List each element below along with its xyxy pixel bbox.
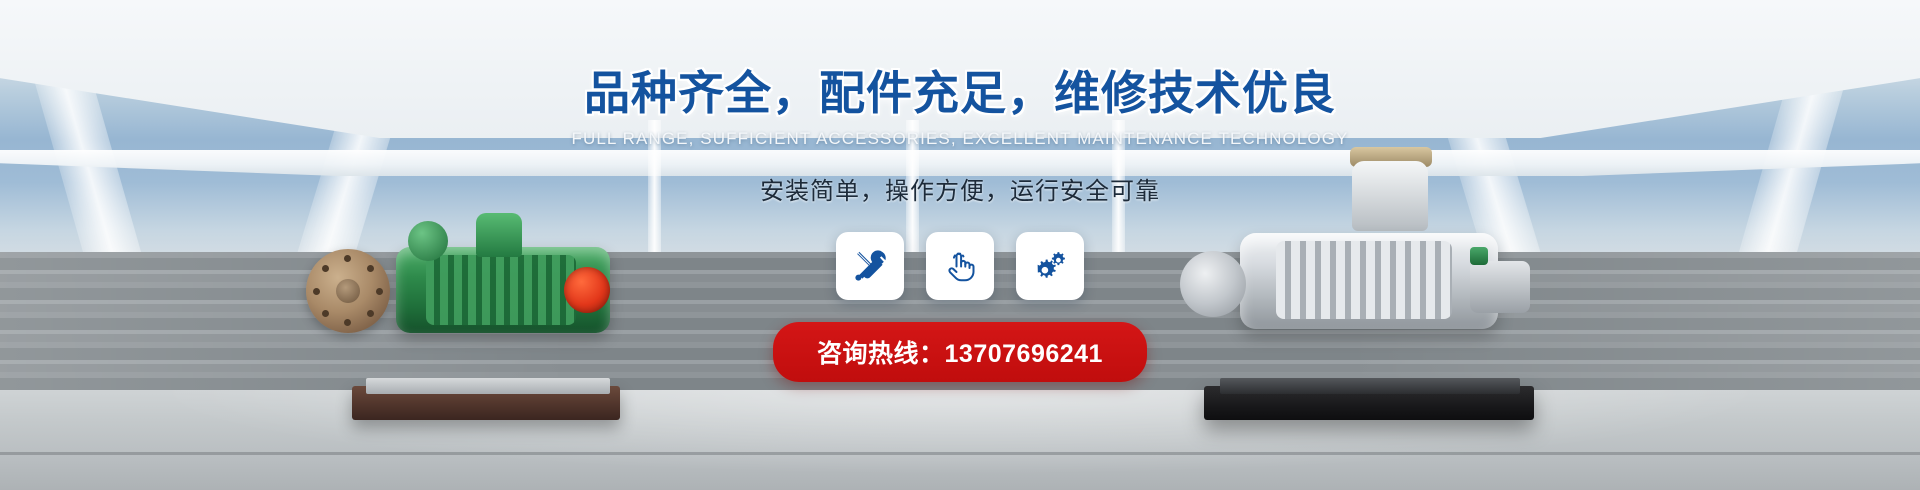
flange-bolt bbox=[367, 265, 374, 272]
feature-item-parts[interactable] bbox=[1016, 232, 1084, 300]
hotline-badge[interactable]: 咨询热线：13707696241 bbox=[773, 322, 1147, 382]
subtitle-chinese: 安装简单，操作方便，运行安全可靠 bbox=[760, 171, 1160, 206]
pump-green-fitting bbox=[1470, 247, 1488, 265]
pump-skid bbox=[366, 378, 610, 394]
flange-bolt bbox=[344, 255, 351, 262]
hand-tap-icon bbox=[943, 249, 977, 283]
feature-item-operation[interactable] bbox=[926, 232, 994, 300]
flange-bolt bbox=[344, 319, 351, 326]
pump-discharge-head bbox=[1352, 161, 1428, 231]
pump-skid bbox=[1220, 378, 1520, 394]
gears-icon bbox=[1033, 249, 1067, 283]
product-image-silver-pump bbox=[1170, 155, 1550, 390]
flange-bolt bbox=[313, 288, 320, 295]
pump-suction-head bbox=[408, 221, 448, 261]
flange-bolt bbox=[322, 265, 329, 272]
subtitle-english: FULL RANGE, SUFFICIENT ACCESSORIES, EXCE… bbox=[572, 129, 1349, 149]
tools-icon bbox=[853, 249, 887, 283]
pump-stages bbox=[1276, 241, 1452, 319]
concrete-floor bbox=[0, 390, 1920, 490]
product-banner: 品种齐全，配件充足，维修技术优良 FULL RANGE, SUFFICIENT … bbox=[0, 0, 1920, 490]
feature-icon-row bbox=[836, 232, 1084, 300]
flange-bolt bbox=[322, 310, 329, 317]
page-title: 品种齐全，配件充足，维修技术优良 bbox=[584, 68, 1336, 119]
pump-suction-flange bbox=[1180, 251, 1246, 317]
product-image-green-pump bbox=[300, 195, 660, 390]
pump-red-cap bbox=[564, 267, 610, 313]
pump-outlet bbox=[1470, 261, 1530, 313]
flange-bolt bbox=[367, 310, 374, 317]
pump-stages bbox=[426, 255, 576, 325]
feature-item-tools[interactable] bbox=[836, 232, 904, 300]
pump-discharge-head bbox=[476, 213, 522, 257]
pump-bronze-flange bbox=[306, 249, 390, 333]
floor-seam bbox=[0, 452, 1920, 455]
flange-bolt bbox=[376, 288, 383, 295]
